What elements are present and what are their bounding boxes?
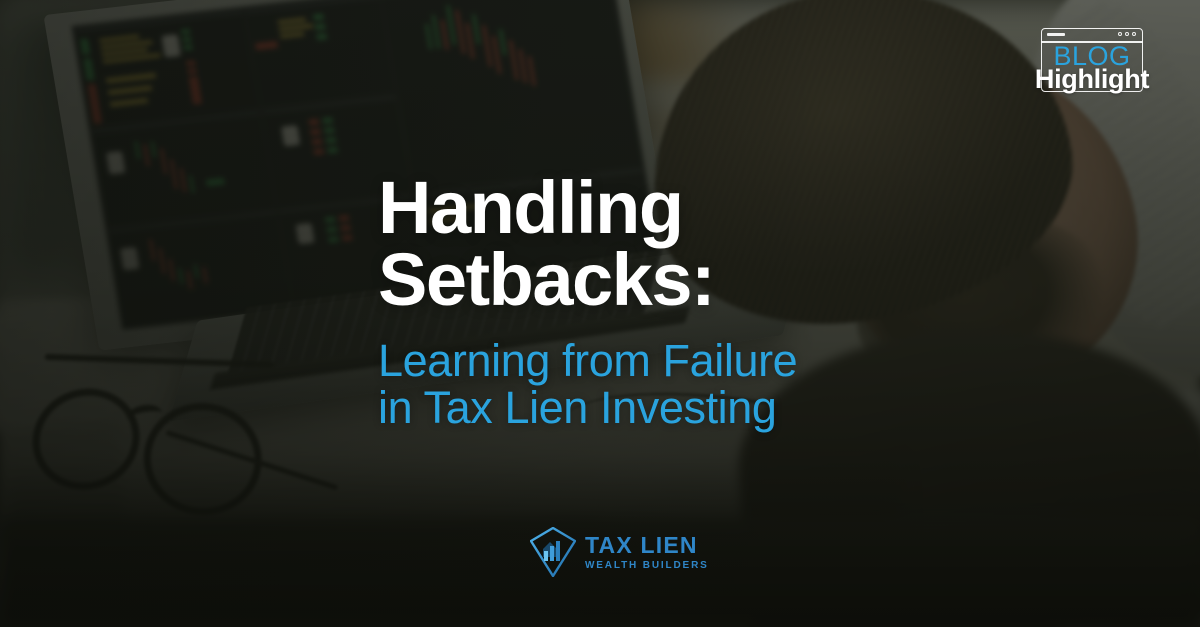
blog-highlight-banner: BLOG Highlight Handling Setbacks: Learni… xyxy=(0,0,1200,627)
blog-highlight-badge: BLOG Highlight xyxy=(1041,28,1143,92)
banner-content: BLOG Highlight Handling Setbacks: Learni… xyxy=(0,0,1200,627)
browser-window-controls-icon xyxy=(1118,32,1136,36)
logo-tagline: WEALTH BUILDERS xyxy=(585,561,709,571)
browser-urlbar-icon xyxy=(1047,33,1065,36)
subtitle-line-2: in Tax Lien Investing xyxy=(378,384,938,432)
logo-name: TAX LIEN xyxy=(585,534,709,557)
page-title-line-2: Setbacks: xyxy=(378,244,938,316)
subtitle-block: Learning from Failure in Tax Lien Invest… xyxy=(378,337,938,432)
logo-wordmark: TAX LIEN WEALTH BUILDERS xyxy=(585,534,709,571)
subtitle-line-1: Learning from Failure xyxy=(378,337,938,385)
page-title-line-1: Handling xyxy=(378,172,938,244)
headline-block: Handling Setbacks: Learning from Failure… xyxy=(378,172,938,432)
diamond-bar-chart-icon xyxy=(530,527,576,577)
brand-logo: TAX LIEN WEALTH BUILDERS xyxy=(530,527,709,577)
badge-word-highlight: Highlight xyxy=(1035,66,1149,93)
